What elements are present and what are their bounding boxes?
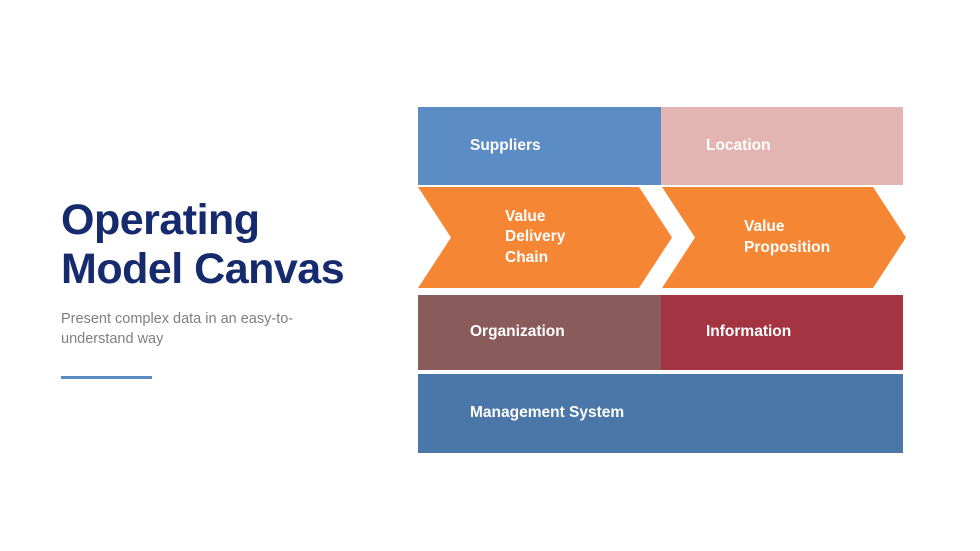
arrow-value-delivery-chain[interactable]: Value Delivery Chain xyxy=(418,187,672,288)
block-suppliers[interactable]: Suppliers xyxy=(418,107,661,185)
block-information[interactable]: Information xyxy=(661,295,903,370)
block-management-system[interactable]: Management System xyxy=(418,374,903,453)
block-suppliers-label: Suppliers xyxy=(470,136,541,156)
block-organization-label: Organization xyxy=(470,322,565,342)
page-title: Operating Model Canvas xyxy=(61,196,391,295)
diagram-row-top: Suppliers Location xyxy=(418,107,903,185)
block-location-label: Location xyxy=(706,136,771,156)
arrow-value-delivery-chain-label: Value Delivery Chain xyxy=(505,207,565,268)
diagram-row-arrows: Value Delivery Chain Value Proposition xyxy=(418,187,903,288)
arrow-value-proposition[interactable]: Value Proposition xyxy=(662,187,906,288)
accent-rule xyxy=(61,376,152,379)
block-location[interactable]: Location xyxy=(661,107,903,185)
block-information-label: Information xyxy=(706,322,791,342)
title-block: Operating Model Canvas Present complex d… xyxy=(61,196,391,349)
page-subtitle: Present complex data in an easy-to-under… xyxy=(61,309,311,349)
diagram-row-middle: Organization Information xyxy=(418,295,903,370)
operating-model-canvas-diagram: Suppliers Location Value Delivery Chain … xyxy=(418,107,906,453)
arrow-value-proposition-label: Value Proposition xyxy=(744,217,830,258)
slide-canvas: Operating Model Canvas Present complex d… xyxy=(0,0,980,551)
diagram-row-bottom: Management System xyxy=(418,374,903,453)
block-management-system-label: Management System xyxy=(470,403,624,423)
block-organization[interactable]: Organization xyxy=(418,295,661,370)
